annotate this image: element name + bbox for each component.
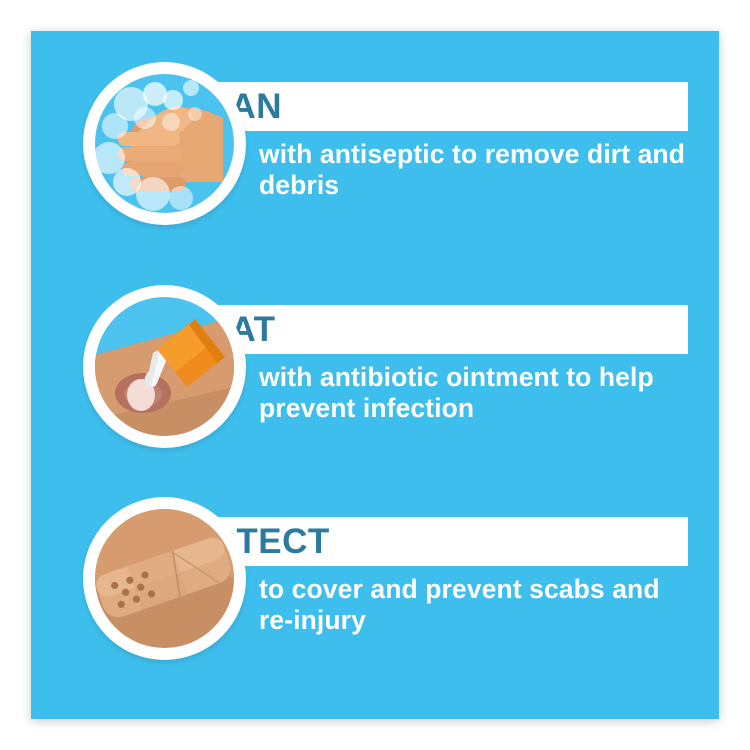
step-description-treat: with antibiotic ointment to help prevent… bbox=[259, 362, 699, 424]
hand-washing-icon bbox=[95, 74, 234, 213]
wound-care-infographic: CLEAN with antiseptic to remove dirt and… bbox=[31, 31, 719, 719]
adhesive-bandage-icon bbox=[95, 509, 234, 648]
step-description-protect: to cover and prevent scabs and re-injury bbox=[259, 574, 699, 636]
icon-hand-washing bbox=[83, 62, 246, 225]
ointment-tube-icon bbox=[95, 297, 234, 436]
icon-bandage bbox=[83, 497, 246, 660]
step-description-clean: with antiseptic to remove dirt and debri… bbox=[259, 139, 699, 201]
icon-ointment bbox=[83, 285, 246, 448]
